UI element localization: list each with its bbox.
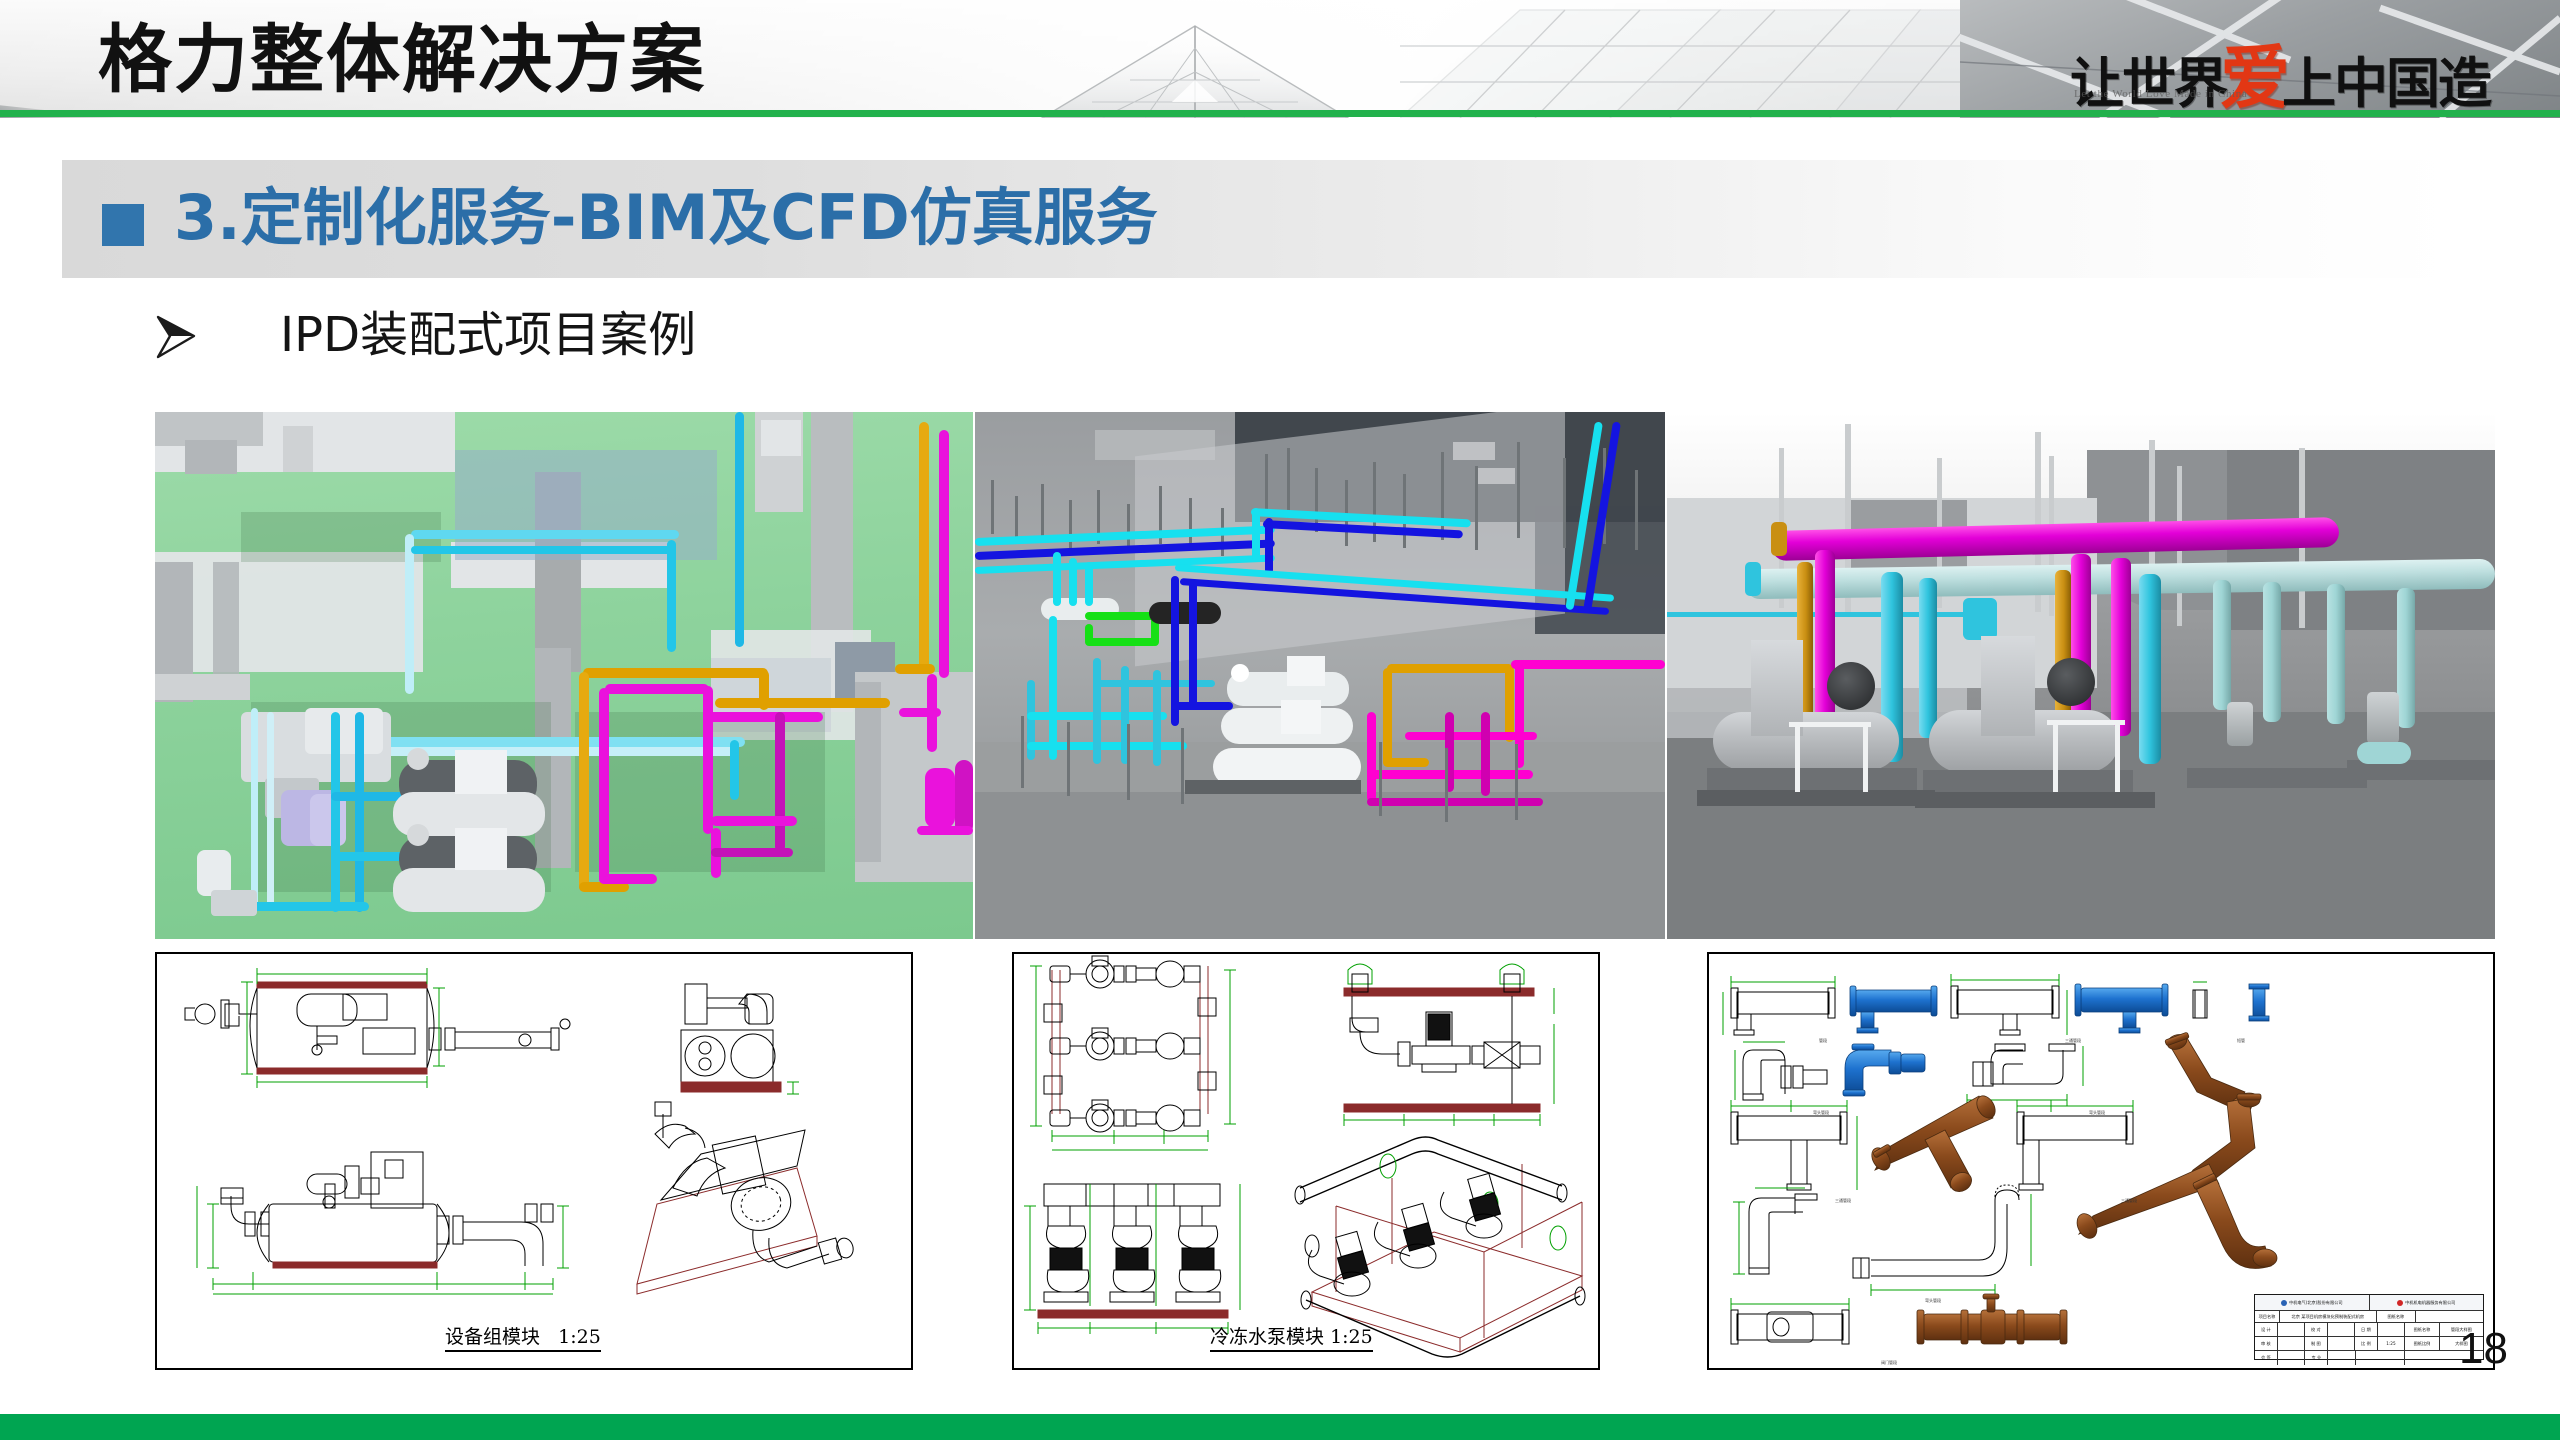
slogan-english: Let the World Love Made in China: [2074, 88, 2247, 100]
bim-plant-room-grey-overview: [975, 412, 1665, 939]
title-block-company-left: 中机电气(北京)股份有限公司: [2289, 1300, 2343, 1306]
header-green-rule: [0, 110, 2560, 117]
svg-text:三通管段: 三通管段: [1835, 1197, 1851, 1203]
bullet-row: IPD装配式项目案例: [150, 305, 1550, 375]
svg-text:弯头管段: 弯头管段: [2089, 1109, 2105, 1115]
glass-pyramid-graphic: [1030, 18, 1360, 118]
brand-slogan-logo: 让世界爱上中国造 Let the World Love Made in Chin…: [2070, 14, 2550, 110]
cad-caption-1: 设备组模块 1:25: [445, 1322, 601, 1349]
slogan-part-2: 上中国造: [2282, 51, 2490, 115]
svg-text:弯头管段: 弯头管段: [1813, 1109, 1829, 1115]
section-title: 3.定制化服务-BIM及CFD仿真服务: [174, 178, 1158, 258]
title-block-project-label: 项目名称: [2255, 1311, 2280, 1322]
svg-text:弯头管段: 弯头管段: [1925, 1297, 1941, 1303]
chiller-plant-closeup-render: [1667, 412, 2495, 939]
title-block-scale-value: 1:25: [2378, 1337, 2405, 1350]
page-title: 格力整体解决方案: [98, 14, 706, 106]
bim-plant-room-green-overview: [155, 412, 973, 939]
slogan-part-1: 让世界: [2070, 51, 2226, 115]
svg-text:阀门管段: 阀门管段: [1881, 1359, 1897, 1365]
title-block-project-name: 北京 某项目机房模块化预制装配式机房: [2280, 1311, 2377, 1322]
cad-caption-2: 冷冻水泵模块 1:25: [1210, 1322, 1373, 1349]
title-block-company-right: 中机机电机器服务有限公司: [2405, 1300, 2455, 1306]
footer-green-bar: [0, 1414, 2560, 1440]
square-bullet-icon: [102, 204, 144, 246]
slide-header: 格力整体解决方案 让世界爱上中国造 Let the World Love Mad…: [0, 0, 2560, 118]
title-block: 中机电气(北京)股份有限公司 中机机电机器服务有限公司 项目名称 北京 某项目机…: [2254, 1294, 2484, 1360]
chilled-water-pump-module-drawing: 冷冻水泵模块 1:25: [1012, 952, 1600, 1370]
title-block-scale-label: 图纸比例: [2405, 1337, 2440, 1350]
svg-text:三通管段: 三通管段: [2065, 1037, 2081, 1043]
title-block-drawing-name-label: 图纸名称: [2405, 1323, 2440, 1336]
equipment-group-module-drawing: 设备组模块 1:25: [155, 952, 913, 1370]
svg-text:管段: 管段: [1819, 1037, 1827, 1043]
slogan-line: 让世界爱上中国造: [2070, 22, 2550, 88]
section-header-bar: 3.定制化服务-BIM及CFD仿真服务: [62, 160, 2457, 278]
svg-text:三通管段: 三通管段: [2121, 1197, 2137, 1203]
prefabricated-pipe-spool-catalog: 管段 三通管段 短管 弯头管段 弯头管段 三通管段 三通管段 弯头管段 阀门管段…: [1707, 952, 2495, 1370]
bullet-text: IPD装配式项目案例: [280, 305, 696, 365]
svg-text:短管: 短管: [2237, 1037, 2245, 1043]
page-number: 18: [2459, 1324, 2508, 1374]
title-block-drawing-label: 图纸名称: [2377, 1311, 2416, 1322]
chevron-arrow-bullet-icon: [150, 311, 202, 363]
slogan-accent-char: 爱: [2220, 36, 2288, 118]
